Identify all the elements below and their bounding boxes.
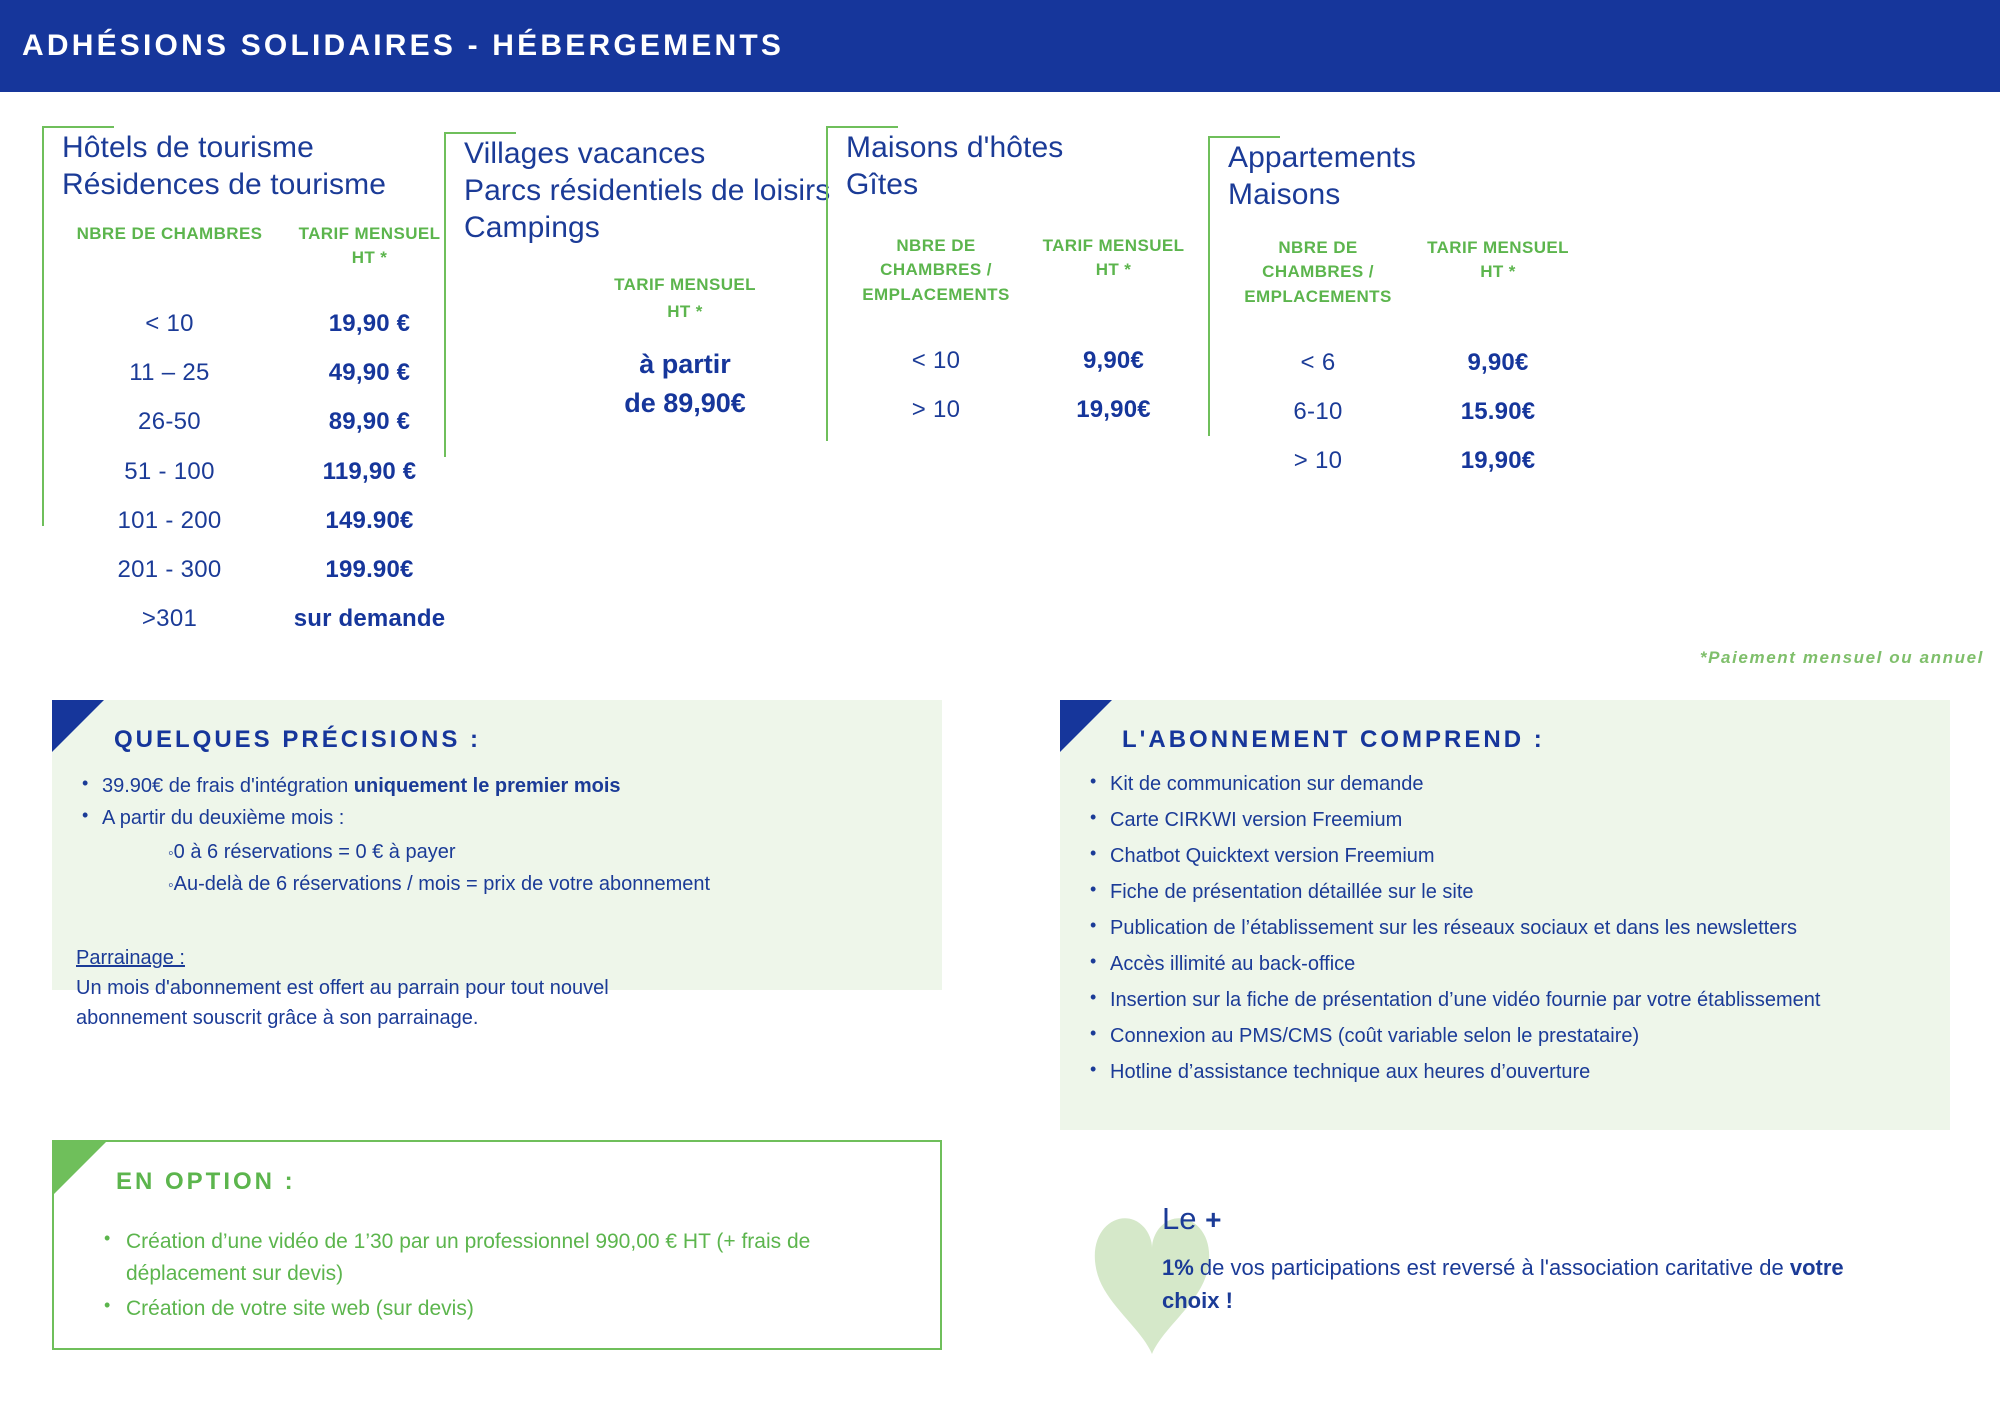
- le-plus-body-plain: de vos participations est reversé à l'as…: [1194, 1255, 1790, 1280]
- column-header-tariff-line1: TARIF MENSUEL: [299, 224, 441, 243]
- list-item: Carte CIRKWI version Freemium: [1084, 806, 1920, 834]
- card-rule-left: [444, 132, 446, 457]
- price-table-hotels: NBRE DE CHAMBRES TARIF MENSUEL HT * < 10…: [62, 222, 462, 644]
- column-header-rooms-line1: NBRE DE: [896, 236, 975, 255]
- le-plus-body: 1% de vos participations est reversé à l…: [1162, 1251, 1862, 1317]
- column-header-rooms: NBRE DE CHAMBRES / EMPLACEMENTS: [846, 234, 1026, 336]
- column-header-tariff-line1: TARIF MENSUEL: [614, 275, 756, 294]
- cell-price: 19,90€: [1408, 436, 1588, 485]
- card-rule-top: [444, 132, 516, 134]
- cell-qty: 51 - 100: [62, 447, 277, 496]
- cell-price: 19,90 €: [277, 299, 462, 348]
- subscription-includes-title: L'ABONNEMENT COMPREND :: [1060, 700, 1950, 754]
- column-header-tariff: TARIF MENSUEL HT *: [1408, 236, 1588, 338]
- list-item: Au-delà de 6 réservations / mois = prix …: [142, 869, 912, 899]
- column-header-tariff-line2: HT *: [667, 302, 703, 321]
- price-table-appartements: NBRE DE CHAMBRES / EMPLACEMENTS TARIF ME…: [1228, 236, 1588, 485]
- pricing-cards-region: Hôtels de tourisme Résidences de tourism…: [0, 108, 2000, 568]
- table-header-row: NBRE DE CHAMBRES / EMPLACEMENTS TARIF ME…: [846, 234, 1201, 336]
- le-plus-heading: Le +: [1162, 1200, 1862, 1237]
- cell-price: 119,90 €: [277, 447, 462, 496]
- card-title-line: Maisons d'hôtes: [846, 130, 1226, 167]
- corner-triangle-icon: [54, 1142, 106, 1194]
- table-row: < 10 9,90€: [846, 336, 1201, 385]
- parrainage-block: Parrainage : Un mois d'abonnement est of…: [52, 903, 942, 1033]
- list-item: Kit de communication sur demande: [1084, 770, 1920, 798]
- precisions-item2: A partir du deuxième mois :: [102, 807, 344, 829]
- cell-price: 89,90 €: [277, 397, 462, 446]
- list-item: Publication de l’établissement sur les r…: [1084, 914, 1920, 942]
- card-title-line: Appartements: [1228, 140, 1608, 177]
- options-list: Création d’une vidéo de 1’30 par un prof…: [94, 1226, 900, 1325]
- list-item: Création de votre site web (sur devis): [94, 1293, 900, 1325]
- cell-qty: 101 - 200: [62, 496, 277, 545]
- cell-qty: 11 – 25: [62, 348, 277, 397]
- corner-triangle-icon: [52, 700, 104, 752]
- table-row: 11 – 25 49,90 €: [62, 348, 462, 397]
- list-item: Connexion au PMS/CMS (coût variable selo…: [1084, 1022, 1920, 1050]
- table-row: 51 - 100 119,90 €: [62, 447, 462, 496]
- precisions-item1-plain: 39.90€ de frais d'intégration: [102, 775, 354, 797]
- card-title-villages: Villages vacances Parcs résidentiels de …: [464, 114, 836, 247]
- cell-price: 199.90€: [277, 545, 462, 594]
- table-row: > 10 19,90€: [1228, 436, 1588, 485]
- list-item: Création d’une vidéo de 1’30 par un prof…: [94, 1226, 900, 1289]
- cell-qty: < 10: [62, 299, 277, 348]
- column-header-tariff: TARIF MENSUEL HT *: [1026, 234, 1201, 336]
- column-header-tariff-line2: HT *: [1480, 262, 1516, 281]
- card-rule-left: [1208, 136, 1210, 436]
- table-row: < 10 19,90 €: [62, 299, 462, 348]
- pricing-card-hotels: Hôtels de tourisme Résidences de tourism…: [42, 108, 462, 643]
- pricing-card-maisons-dhotes: Maisons d'hôtes Gîtes NBRE DE CHAMBRES /…: [826, 108, 1226, 434]
- options-content: Création d’une vidéo de 1’30 par un prof…: [54, 1196, 940, 1325]
- column-header-tariff-line1: TARIF MENSUEL: [1043, 236, 1185, 255]
- card-title-hotels: Hôtels de tourisme Résidences de tourism…: [62, 108, 462, 204]
- table-row: 6-10 15.90€: [1228, 387, 1588, 436]
- column-header-rooms-line1: NBRE DE: [1278, 238, 1357, 257]
- table-row: > 10 19,90€: [846, 385, 1201, 434]
- cell-qty: 6-10: [1228, 387, 1408, 436]
- card-title-line: Parcs résidentiels de loisirs: [464, 173, 836, 210]
- column-header-rooms: NBRE DE CHAMBRES / EMPLACEMENTS: [1228, 236, 1408, 338]
- column-header-rooms-line2: CHAMBRES /: [1262, 262, 1374, 281]
- cell-qty: 26-50: [62, 397, 277, 446]
- list-item: 39.90€ de frais d'intégration uniquement…: [76, 772, 912, 800]
- precisions-item1-bold: uniquement le premier mois: [354, 775, 621, 797]
- cell-qty: > 10: [1228, 436, 1408, 485]
- le-plus-heading-plus: +: [1205, 1204, 1221, 1235]
- table-row: < 6 9,90€: [1228, 338, 1588, 387]
- card-title-line: Résidences de tourisme: [62, 167, 462, 204]
- corner-triangle-icon: [1060, 700, 1112, 752]
- card-title-line: Gîtes: [846, 167, 1226, 204]
- price-line2: de 89,90€: [534, 384, 836, 423]
- card-title-line: Villages vacances: [464, 136, 836, 173]
- card-title-line: Hôtels de tourisme: [62, 130, 462, 167]
- le-plus-text: Le + 1% de vos participations est revers…: [1162, 1200, 1862, 1317]
- column-header-tariff-line2: HT *: [352, 248, 388, 267]
- column-header-rooms: NBRE DE CHAMBRES: [62, 222, 277, 299]
- pricing-card-appartements: Appartements Maisons NBRE DE CHAMBRES / …: [1208, 118, 1608, 485]
- column-header-tariff-line1: TARIF MENSUEL: [1427, 238, 1569, 257]
- cell-price: 19,90€: [1026, 385, 1201, 434]
- list-item: Hotline d’assistance technique aux heure…: [1084, 1058, 1920, 1086]
- column-header-tariff: TARIF MENSUEL HT *: [277, 222, 462, 299]
- precisions-sublist: 0 à 6 réservations = 0 € à payer Au-delà…: [102, 837, 912, 899]
- parrainage-line1: Un mois d'abonnement est offert au parra…: [76, 977, 609, 999]
- precisions-list: 39.90€ de frais d'intégration uniquement…: [76, 772, 912, 899]
- card-rule-top: [42, 126, 114, 128]
- subscription-includes-box: L'ABONNEMENT COMPREND : Kit de communica…: [1060, 700, 1950, 1130]
- cell-price: 9,90€: [1408, 338, 1588, 387]
- pricing-card-villages: Villages vacances Parcs résidentiels de …: [444, 114, 836, 423]
- le-plus-percentage: 1%: [1162, 1255, 1194, 1280]
- table-row: 101 - 200 149.90€: [62, 496, 462, 545]
- subscription-includes-content: Kit de communication sur demande Carte C…: [1060, 754, 1950, 1086]
- le-plus-heading-text: Le: [1162, 1201, 1205, 1236]
- parrainage-line2: abonnement souscrit grâce à son parraina…: [76, 1007, 478, 1029]
- list-item: Fiche de présentation détaillée sur le s…: [1084, 878, 1920, 906]
- payment-footnote: *Paiement mensuel ou annuel: [1700, 648, 1984, 668]
- options-box: EN OPTION : Création d’une vidéo de 1’30…: [52, 1140, 942, 1350]
- table-row: >301 sur demande: [62, 594, 462, 643]
- cell-price: 149.90€: [277, 496, 462, 545]
- cell-qty: 201 - 300: [62, 545, 277, 594]
- list-item: Accès illimité au back-office: [1084, 950, 1920, 978]
- table-header-row: NBRE DE CHAMBRES TARIF MENSUEL HT *: [62, 222, 462, 299]
- precisions-title: QUELQUES PRÉCISIONS :: [52, 700, 942, 754]
- page-title: ADHÉSIONS SOLIDAIRES - HÉBERGEMENTS: [0, 29, 784, 63]
- cell-price: sur demande: [277, 594, 462, 643]
- subscription-includes-list: Kit de communication sur demande Carte C…: [1084, 770, 1920, 1086]
- card-rule-left: [826, 126, 828, 441]
- column-header-rooms-line3: EMPLACEMENTS: [1244, 287, 1391, 306]
- price-block-villages: TARIF MENSUEL HT * à partir de 89,90€: [464, 271, 836, 424]
- cell-qty: < 6: [1228, 338, 1408, 387]
- column-header-rooms-line3: EMPLACEMENTS: [862, 285, 1009, 304]
- precisions-box: QUELQUES PRÉCISIONS : 39.90€ de frais d'…: [52, 700, 942, 990]
- cell-price: 15.90€: [1408, 387, 1588, 436]
- precisions-content: 39.90€ de frais d'intégration uniquement…: [52, 754, 942, 899]
- list-item: A partir du deuxième mois : 0 à 6 réserv…: [76, 804, 912, 898]
- page-header-banner: ADHÉSIONS SOLIDAIRES - HÉBERGEMENTS: [0, 0, 2000, 92]
- le-plus-block: Le + 1% de vos participations est revers…: [1092, 1200, 1892, 1380]
- table-header-row: NBRE DE CHAMBRES / EMPLACEMENTS TARIF ME…: [1228, 236, 1588, 338]
- card-title-line: Maisons: [1228, 177, 1608, 214]
- card-title-appartements: Appartements Maisons: [1228, 118, 1608, 214]
- cell-qty: > 10: [846, 385, 1026, 434]
- table-row: 26-50 89,90 €: [62, 397, 462, 446]
- column-header-tariff: TARIF MENSUEL HT *: [534, 271, 836, 325]
- cell-price: 9,90€: [1026, 336, 1201, 385]
- list-item: Insertion sur la fiche de présentation d…: [1084, 986, 1920, 1014]
- column-header-rooms-line2: CHAMBRES /: [880, 260, 992, 279]
- card-rule-top: [826, 126, 898, 128]
- list-item: Chatbot Quicktext version Freemium: [1084, 842, 1920, 870]
- card-title-line: Campings: [464, 210, 836, 247]
- cell-qty: < 10: [846, 336, 1026, 385]
- price-table-maisons: NBRE DE CHAMBRES / EMPLACEMENTS TARIF ME…: [846, 234, 1201, 434]
- column-header-tariff-line2: HT *: [1096, 260, 1132, 279]
- price-value-villages: à partir de 89,90€: [534, 345, 836, 423]
- cell-price: 49,90 €: [277, 348, 462, 397]
- list-item: 0 à 6 réservations = 0 € à payer: [142, 837, 912, 867]
- price-line1: à partir: [534, 345, 836, 384]
- cell-qty: >301: [62, 594, 277, 643]
- card-title-maisons: Maisons d'hôtes Gîtes: [846, 108, 1226, 204]
- table-row: 201 - 300 199.90€: [62, 545, 462, 594]
- card-rule-left: [42, 126, 44, 526]
- card-rule-top: [1208, 136, 1280, 138]
- parrainage-label: Parrainage :: [76, 947, 185, 969]
- options-title: EN OPTION :: [54, 1142, 940, 1196]
